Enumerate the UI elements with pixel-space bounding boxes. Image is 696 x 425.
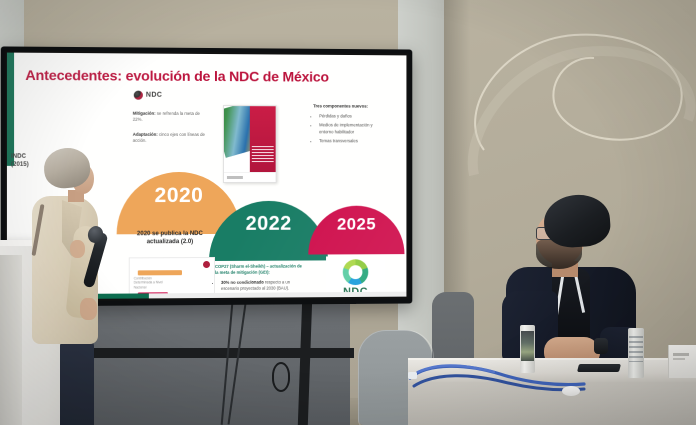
componentes-block: Tres componentes nuevos: Pérdidas y daño…	[313, 103, 376, 147]
blue-ethernet-cable	[408, 360, 588, 396]
chart-bar	[138, 270, 182, 275]
beverage-can-left	[520, 325, 535, 373]
slide-title: Antecedentes: evolución de la NDC de Méx…	[25, 68, 394, 86]
lectern-side	[0, 255, 22, 425]
componentes-item: Temas transversales	[319, 138, 376, 145]
attendee-hair	[542, 193, 611, 249]
presenter-hand	[80, 298, 97, 320]
cover-red-band	[250, 106, 276, 182]
ndc-document-cover	[223, 105, 277, 183]
beverage-can-right	[628, 328, 644, 378]
adaptacion-block: Adaptación: cinco ejes con líneas de acc…	[133, 132, 205, 145]
ndc-seal-icon	[134, 91, 143, 100]
namecard-line	[673, 358, 685, 360]
namecard-line	[673, 353, 689, 356]
adaptacion-label: Adaptación:	[133, 132, 158, 137]
mitigacion-block: Mitigación: se refrenda la meta de 22%.	[133, 111, 205, 124]
componentes-item: Pérdidas y daños	[319, 114, 376, 121]
ndc-logo-label: NDC	[146, 92, 162, 99]
can-graphic	[629, 336, 643, 362]
wristwatch-icon	[594, 338, 608, 354]
caption-2020: 2020 se publica la NDC actualizada (2.0)	[129, 230, 211, 247]
computer-mouse	[562, 386, 580, 396]
chart-logo-icon	[203, 261, 210, 268]
cop27-item-bold: 30% no condicionado	[221, 279, 264, 284]
timeline-year-2022: 2022	[246, 213, 292, 236]
place-name-card	[668, 345, 696, 378]
timeline-year-2025: 2025	[337, 215, 376, 235]
componentes-item: Medios de implementación y entorno habil…	[319, 123, 376, 136]
componentes-heading: Tres componentes nuevos:	[313, 103, 376, 110]
cop27-item: 30% no condicionado respecto a un escena…	[221, 279, 306, 292]
cover-title-lines	[252, 146, 274, 162]
slide-accent-bar	[7, 53, 14, 166]
cover-footer	[224, 172, 276, 182]
can-graphic	[521, 331, 534, 361]
coiled-cable	[272, 362, 290, 392]
ndc-globe-icon	[343, 259, 369, 285]
presenter-legs	[60, 340, 94, 425]
mitigacion-label: Mitigación:	[133, 111, 156, 116]
componentes-list: Pérdidas y daños Medios de implementació…	[313, 114, 376, 145]
chart-caption: Contribución Determinada a Nivel Naciona…	[134, 276, 164, 290]
standing-presenter	[28, 148, 108, 408]
tablet-device	[577, 364, 621, 372]
presenter-hand-upper	[70, 240, 85, 258]
ndc-logo-small: NDC	[134, 91, 163, 100]
timeline-year-2020: 2020	[155, 184, 204, 208]
timeline-arc-2025: 2025	[308, 206, 404, 255]
presentation-room-scene: Antecedentes: evolución de la NDC de Méx…	[0, 0, 696, 425]
cop27-heading: COP27 (Sharm el-Sheikh) – actualización …	[215, 264, 306, 277]
